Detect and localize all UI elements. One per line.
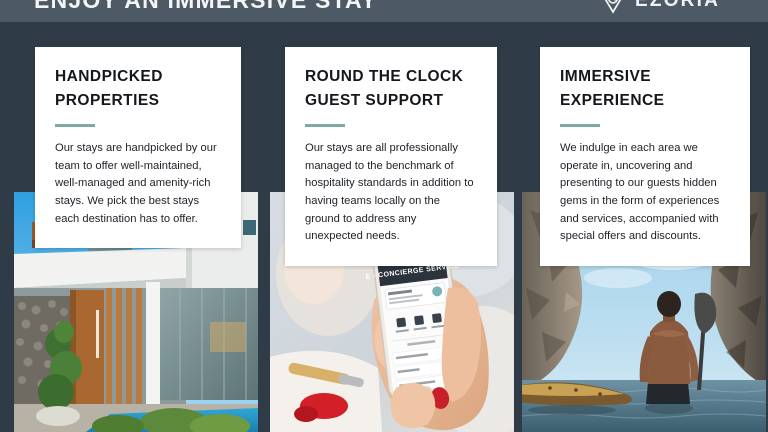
feature-card-immersive-experience: IMMERSIVE EXPERIENCE We indulge in each … bbox=[540, 47, 750, 266]
feature-column-handpicked-properties: HANDPICKED PROPERTIES Our stays are hand… bbox=[10, 22, 262, 432]
feature-column-guest-support: E - CONCIERGE SERVICE bbox=[266, 22, 518, 432]
feature-column-immersive-experience: IMMERSIVE EXPERIENCE We indulge in each … bbox=[518, 22, 768, 432]
card-heading: HANDPICKED PROPERTIES bbox=[55, 65, 221, 113]
accent-rule bbox=[305, 124, 345, 127]
card-body: Our stays are all professionally managed… bbox=[305, 140, 477, 246]
feature-columns: HANDPICKED PROPERTIES Our stays are hand… bbox=[0, 22, 768, 432]
brand-name: EZORIA bbox=[635, 0, 720, 12]
triangle-badge-logo-icon bbox=[598, 0, 628, 14]
slide-canvas: ENJOY AN IMMERSIVE STAY EZORIA bbox=[0, 0, 768, 432]
card-heading: ROUND THE CLOCK GUEST SUPPORT bbox=[305, 65, 477, 113]
feature-card-guest-support: ROUND THE CLOCK GUEST SUPPORT Our stays … bbox=[285, 47, 497, 266]
header-band: ENJOY AN IMMERSIVE STAY EZORIA bbox=[0, 0, 768, 22]
brand-logo: EZORIA bbox=[598, 0, 720, 15]
page-title: ENJOY AN IMMERSIVE STAY bbox=[34, 0, 377, 14]
accent-rule bbox=[55, 124, 95, 127]
card-body: Our stays are handpicked by our team to … bbox=[55, 140, 221, 228]
card-heading: IMMERSIVE EXPERIENCE bbox=[560, 65, 730, 113]
feature-card-handpicked-properties: HANDPICKED PROPERTIES Our stays are hand… bbox=[35, 47, 241, 248]
card-body: We indulge in each area we operate in, u… bbox=[560, 140, 730, 246]
accent-rule bbox=[560, 124, 600, 127]
